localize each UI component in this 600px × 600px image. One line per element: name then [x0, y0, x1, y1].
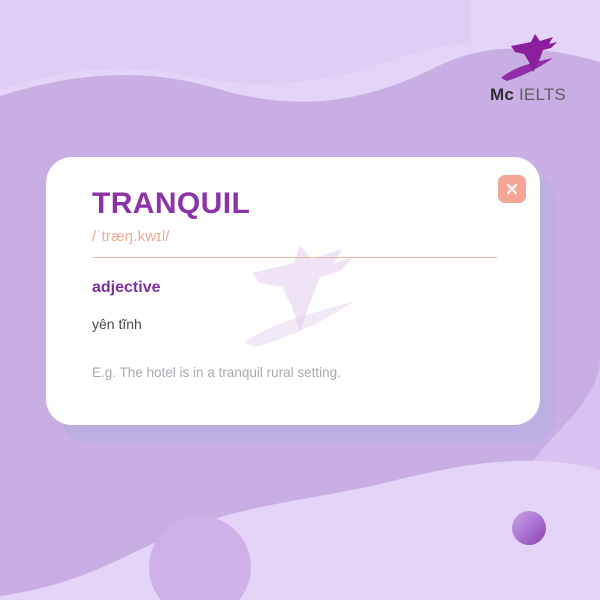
word-title: TRANQUIL: [92, 188, 494, 220]
hummingbird-icon: [491, 28, 565, 84]
word-example: E.g. The hotel is in a tranquil rural se…: [92, 365, 494, 380]
close-icon: [505, 182, 519, 196]
brand-logo: Mc IELTS: [478, 28, 578, 105]
brand-name: Mc IELTS: [478, 86, 578, 105]
brand-name-bold: Mc: [490, 85, 514, 104]
card-content: TRANQUIL /ˈtræŋ.kwɪl/ adjective yên tĩnh…: [46, 157, 540, 380]
close-button[interactable]: [498, 175, 526, 203]
word-phonetic: /ˈtræŋ.kwɪl/: [92, 228, 494, 245]
brand-name-light: IELTS: [519, 85, 566, 104]
vocabulary-card: TRANQUIL /ˈtræŋ.kwɪl/ adjective yên tĩnh…: [46, 157, 540, 425]
flashcard-screen: Mc IELTS TRANQUIL /ˈtræŋ.kwɪl/ adjective…: [0, 0, 600, 600]
accent-dot: [512, 511, 546, 545]
word-meaning: yên tĩnh: [92, 316, 494, 332]
part-of-speech-label: adjective: [92, 279, 494, 297]
divider: [92, 257, 497, 258]
